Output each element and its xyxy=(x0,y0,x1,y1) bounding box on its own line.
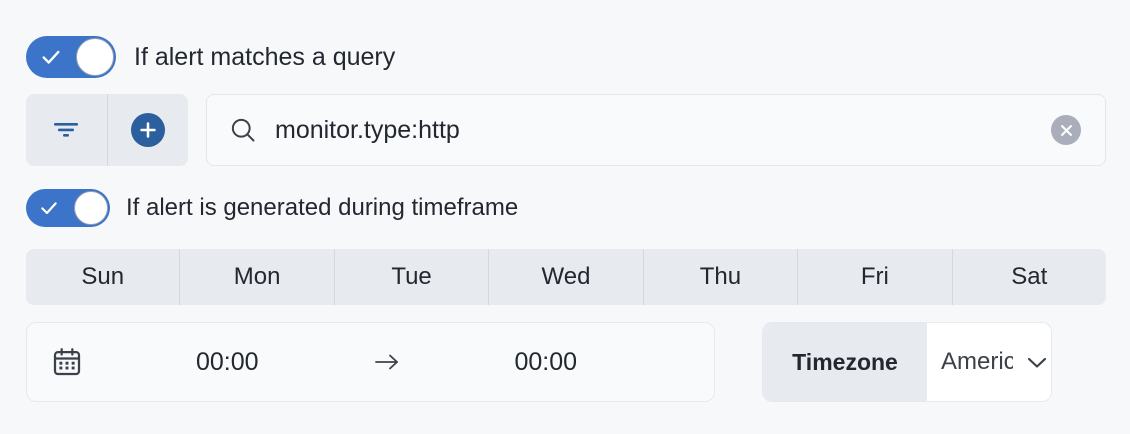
calendar-icon xyxy=(51,346,83,378)
plus-icon xyxy=(137,119,159,141)
time-range-field[interactable]: 00:00 00:00 xyxy=(26,322,715,402)
day-button-fri[interactable]: Fri xyxy=(797,249,951,305)
search-input[interactable]: monitor.type:http xyxy=(275,116,1051,145)
query-toolbar xyxy=(26,94,188,166)
end-time-value[interactable]: 00:00 xyxy=(402,348,691,377)
query-search-field[interactable]: monitor.type:http xyxy=(206,94,1106,166)
toggle-knob xyxy=(74,191,108,225)
timeframe-condition-label: If alert is generated during timeframe xyxy=(126,196,518,220)
timeframe-condition-row: If alert is generated during timeframe xyxy=(26,189,518,227)
close-icon xyxy=(1059,123,1074,138)
check-icon xyxy=(39,198,59,218)
day-button-sun[interactable]: Sun xyxy=(26,249,179,305)
timezone-select[interactable]: America/ xyxy=(927,323,1051,401)
filter-icon xyxy=(53,120,79,140)
check-icon xyxy=(40,46,62,68)
timezone-value: America/ xyxy=(941,348,1013,376)
query-condition-row: If alert matches a query xyxy=(26,36,395,78)
filter-button[interactable] xyxy=(26,94,107,166)
query-bar: monitor.type:http xyxy=(26,94,1106,166)
day-button-sat[interactable]: Sat xyxy=(952,249,1106,305)
timezone-label: Timezone xyxy=(763,323,927,401)
day-button-mon[interactable]: Mon xyxy=(179,249,333,305)
chevron-down-icon xyxy=(1023,352,1051,372)
plus-circle xyxy=(131,113,165,147)
timezone-control: Timezone America/ xyxy=(762,322,1052,402)
arrow-right-icon xyxy=(372,349,402,375)
clear-search-button[interactable] xyxy=(1051,115,1081,145)
search-icon xyxy=(229,116,257,144)
query-condition-toggle[interactable] xyxy=(26,36,116,78)
day-button-tue[interactable]: Tue xyxy=(334,249,488,305)
add-button[interactable] xyxy=(107,94,189,166)
timeframe-condition-toggle[interactable] xyxy=(26,189,110,227)
day-button-wed[interactable]: Wed xyxy=(488,249,642,305)
weekday-selector: Sun Mon Tue Wed Thu Fri Sat xyxy=(26,249,1106,305)
toggle-knob xyxy=(76,38,114,76)
day-button-thu[interactable]: Thu xyxy=(643,249,797,305)
query-condition-label: If alert matches a query xyxy=(134,45,395,70)
start-time-value[interactable]: 00:00 xyxy=(83,348,372,377)
